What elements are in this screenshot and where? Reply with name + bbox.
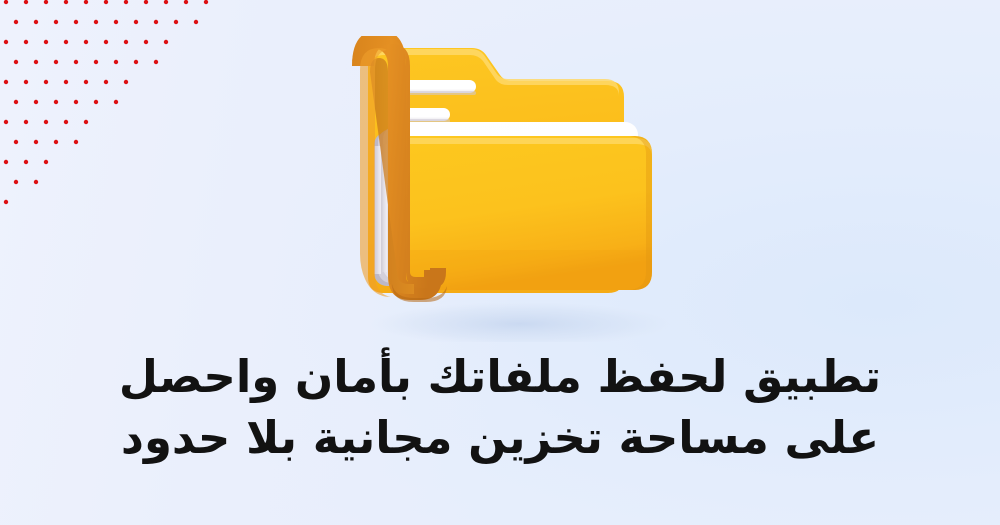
page-title: تطبيق لحفظ ملفاتك بأمان واحصل على مساحة …: [50, 346, 950, 468]
headline-line-2: على مساحة تخزين مجانية بلا حدود: [50, 407, 950, 468]
folder-illustration: [330, 36, 670, 342]
headline-line-1: تطبيق لحفظ ملفاتك بأمان واحصل: [50, 346, 950, 407]
promo-banner: تطبيق لحفظ ملفاتك بأمان واحصل على مساحة …: [0, 0, 1000, 525]
